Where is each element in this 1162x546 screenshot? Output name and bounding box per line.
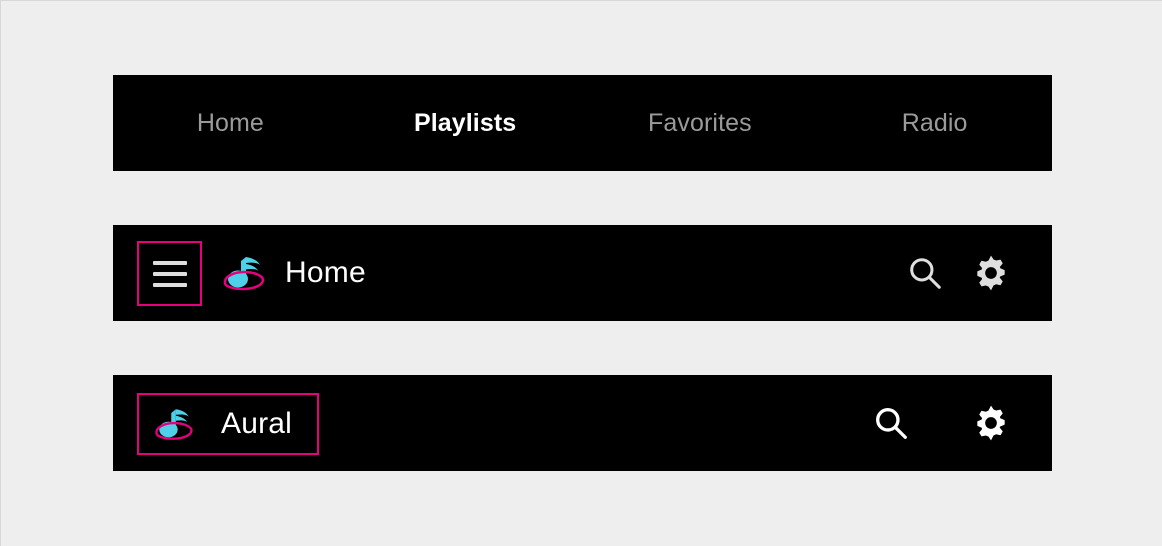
page-canvas: Home Playlists Favorites Radio (0, 0, 1162, 546)
app-bar-home: Home (113, 225, 1052, 321)
tab-playlists[interactable]: Playlists (348, 111, 583, 136)
search-button[interactable] (892, 240, 958, 306)
brand-button[interactable]: Aural (137, 393, 319, 455)
hamburger-menu-icon-line-2 (153, 272, 187, 276)
app-bar-brand: Aural (113, 375, 1052, 471)
brand-bar-actions (858, 375, 1024, 471)
gear-icon (971, 403, 1011, 443)
hamburger-menu-button[interactable] (137, 241, 202, 306)
hamburger-menu-icon-line-1 (153, 261, 187, 265)
hamburger-menu-icon-line-3 (153, 283, 187, 287)
aural-planet-note-logo-icon (219, 248, 269, 298)
settings-button[interactable] (958, 240, 1024, 306)
brand-name-label: Aural (221, 407, 292, 441)
tab-home[interactable]: Home (113, 111, 348, 136)
settings-button[interactable] (958, 390, 1024, 456)
search-icon (906, 254, 944, 292)
aural-planet-note-logo-icon (151, 401, 197, 447)
app-bar-title: Home (285, 225, 366, 321)
search-button[interactable] (858, 390, 924, 456)
tab-favorites[interactable]: Favorites (583, 111, 818, 136)
search-icon (872, 404, 910, 442)
gear-icon (971, 253, 1011, 293)
tab-radio[interactable]: Radio (817, 111, 1052, 136)
app-bar-actions (892, 225, 1024, 321)
top-tab-navigation: Home Playlists Favorites Radio (113, 75, 1052, 171)
